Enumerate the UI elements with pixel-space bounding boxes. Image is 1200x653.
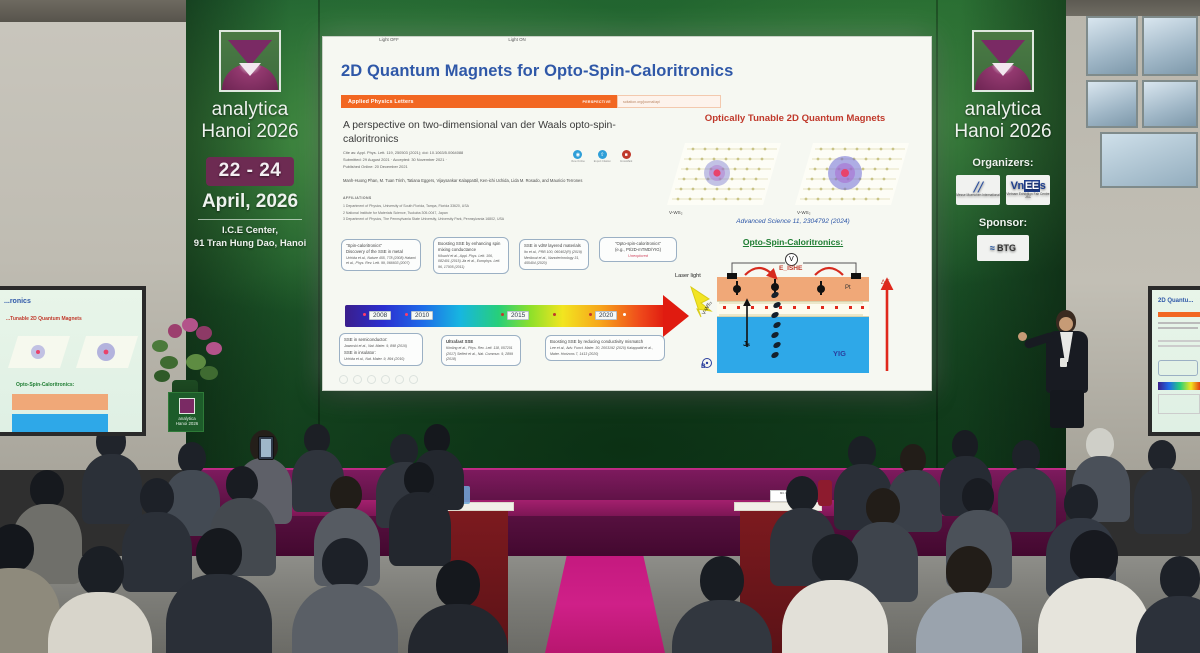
timeline-year: 2008 — [369, 311, 391, 320]
box-heading: Ultrafast SSE — [446, 339, 516, 345]
affiliation-item: 3 Department of Physics, The Pennsylvani… — [343, 216, 643, 223]
box-heading-2: SSE in insulator: — [344, 350, 418, 356]
author-list: Manh-Huong Phan, M. Tuan Trinh, Tatiana … — [343, 177, 643, 185]
lattice-material-label-right: V-WS₂ — [797, 210, 811, 215]
side-monitor-pt-layer — [12, 394, 108, 410]
organizer-logo-vnees-icon: VnEEs Vietnam Exhibition Fair Centre JSC — [1006, 175, 1050, 205]
ceiling-strip-left — [0, 0, 186, 22]
toolbar-more-icon[interactable] — [409, 375, 418, 384]
timeline-year: 2015 — [507, 311, 529, 320]
box-status: Unexplored — [604, 253, 672, 258]
brand-name: analytica — [180, 100, 320, 120]
opto-spin-caloritronics-figure: V E_ISHE Laser light ΔT Pt YIG Jₛ B V-WS… — [675, 251, 911, 379]
crossmark-icon: ■ CrossMark — [620, 150, 633, 163]
citation-line: Submitted: 29 August 2021 · Accepted: 30… — [343, 157, 573, 164]
box-refs-2: Uchida et al., Nat. Mater. 9, 894 (2010) — [344, 357, 418, 362]
box-refs: Kimling et al., Phys. Rev. Lett. 118, 05… — [446, 346, 516, 362]
yig-label: YIG — [833, 349, 846, 358]
laser-light-label: Laser light — [675, 273, 701, 279]
organizer-logo-messe-icon: ╱╱ Messe Muenchen International — [956, 175, 1000, 205]
timeline-year: 2020 — [595, 311, 617, 320]
side-monitor-right: 2D Quantu... — [1148, 286, 1200, 436]
timeline-box-bottom-1: SSE in semiconductor: Jaworski et al., N… — [339, 333, 423, 366]
side-monitor-yig-layer — [12, 414, 108, 436]
timeline-marker — [589, 313, 592, 316]
side-monitor-lattices — [0, 330, 140, 376]
banner-right: analytica Hanoi 2026 Organizers: ╱╱ Mess… — [933, 16, 1073, 261]
side-monitor-left: ...ronics ...Tunable 2D Quantum Magnets … — [0, 286, 146, 436]
box-refs: Ito et al., PRB 100, 060402(R) (2019) Me… — [524, 250, 584, 266]
analytica-logo-icon — [219, 30, 281, 92]
box-refs: Uchida et al., Nature 455, 778 (2008) Ha… — [346, 256, 416, 267]
window-pane — [1086, 16, 1138, 76]
timeline-box-top-4: "Opto-spin-caloritronics" (e.g., Pt/2D-m… — [599, 237, 677, 262]
timeline-box-top-2: Boosting SSE by enhancing spin mixing co… — [433, 237, 509, 274]
projection-screen: 2D Quantum Magnets for Opto-Spin-Calorit… — [322, 36, 932, 391]
pt-label: Pt — [845, 285, 851, 291]
box-refs: Jaworski et al., Nat. Mater. 9, 898 (201… — [344, 344, 418, 349]
brand-name: analytica — [933, 100, 1073, 120]
lattice-caption-light-off: Light OFF — [329, 37, 449, 42]
venue-line-1: I.C.E Center, — [180, 225, 320, 238]
timeline-marker — [501, 313, 504, 316]
box-subheading: Discovery of the SSE in metal — [346, 249, 416, 255]
side-monitor-title: ...ronics — [4, 298, 31, 305]
organizer-logo-row: ╱╱ Messe Muenchen International VnEEs Vi… — [933, 175, 1073, 205]
window-pane — [1086, 80, 1138, 128]
publication-icon-row: ◉ View Online ⇧ Export Citation ■ CrossM… — [571, 150, 632, 163]
ceiling-strip-right — [1066, 0, 1200, 16]
timeline-arrowhead — [663, 295, 689, 337]
timeline-marker — [363, 313, 366, 316]
podium-logo-icon — [179, 398, 195, 414]
slide-title: 2D Quantum Magnets for Opto-Spin-Calorit… — [341, 62, 733, 81]
lattice-figures: V-WS₂ V-WS₂ — [659, 129, 927, 215]
affiliation-item: 2 National Institute for Materials Scien… — [343, 210, 643, 217]
advanced-science-reference: Advanced Science 11, 2304792 (2024) — [659, 218, 927, 225]
podium-text: analyticaHanoi 2026 — [169, 416, 205, 427]
presentation-slide: 2D Quantum Magnets for Opto-Spin-Calorit… — [323, 37, 931, 390]
magnetic-field-label: B — [701, 363, 706, 370]
optically-tunable-heading: Optically Tunable 2D Quantum Magnets — [667, 113, 923, 124]
sponsor-label: Sponsor: — [933, 217, 1073, 229]
journal-section: PERSPECTIVE — [583, 100, 611, 104]
sponsor-logo-btg-icon: ≈ BTG — [977, 235, 1029, 261]
smartphone — [258, 436, 274, 460]
podium-sign: analyticaHanoi 2026 — [168, 392, 204, 432]
lattice-diagram-light-off — [665, 139, 785, 211]
journal-header-bar: Applied Physics Letters PERSPECTIVE — [341, 95, 617, 108]
box-heading: SSE in vdW layered materials — [524, 243, 584, 249]
eishe-label: E_ISHE — [779, 265, 802, 272]
window-pane — [1100, 132, 1198, 188]
export-citation-icon: ⇧ Export Citation — [594, 150, 611, 163]
journal-url: scitation.org/journal/apl — [617, 95, 721, 108]
timeline-marker — [553, 313, 556, 316]
toolbar-menu-icon[interactable] — [381, 375, 390, 384]
box-refs: Kikuchi et al., Appl. Phys. Lett. 106, 0… — [438, 254, 504, 270]
timeline-marker — [405, 313, 408, 316]
analytica-logo-icon — [972, 30, 1034, 92]
event-month-year: April, 2026 — [180, 191, 320, 213]
timeline-year: 2010 — [411, 311, 433, 320]
toolbar-next-icon[interactable] — [353, 375, 362, 384]
timeline-box-bottom-2: Ultrafast SSE Kimling et al., Phys. Rev.… — [441, 335, 521, 366]
timeline-marker — [623, 313, 626, 316]
side-monitor-title: 2D Quantu... — [1158, 298, 1193, 304]
divider — [198, 219, 302, 220]
spin-current-label: Jₛ — [743, 339, 750, 348]
window-pane — [1142, 16, 1198, 76]
flower-vase-table — [818, 480, 832, 506]
citation-line: Cite as: Appl. Phys. Lett. 119, 250503 (… — [343, 150, 573, 157]
event-dates: 22 - 24 — [206, 157, 295, 186]
window-pane — [1142, 80, 1198, 128]
delta-t-label: ΔT — [881, 279, 889, 286]
journal-name: Applied Physics Letters — [348, 99, 414, 105]
lattice-diagram-light-on — [793, 139, 913, 211]
paper-title: A perspective on two-dimensional van der… — [343, 119, 633, 147]
presenter — [1040, 310, 1096, 428]
opto-spin-caloritronics-heading: Opto-Spin-Caloritronics: — [659, 237, 927, 247]
timeline-box-top-3: SSE in vdW layered materials Ito et al.,… — [519, 239, 589, 270]
venue-line-2: 91 Tran Hung Dao, Hanoi — [180, 238, 320, 251]
timeline-box-top-1: "Spin-caloritronics" Discovery of the SS… — [341, 239, 421, 271]
lattice-material-label-left: V-WS₂ — [669, 210, 683, 215]
toolbar-previous-icon[interactable] — [339, 375, 348, 384]
banner-left: analytica Hanoi 2026 22 - 24 April, 2026… — [180, 16, 320, 250]
box-refs: Lee et al., Adv. Funct. Mater. 30, 20031… — [550, 346, 660, 357]
side-monitor-subtitle: ...Tunable 2D Quantum Magnets — [6, 316, 82, 322]
timeline-box-bottom-3: Boosting SSE by reducing conductivity mi… — [545, 335, 665, 361]
brand-location: Hanoi 2026 — [933, 121, 1073, 143]
citation-block: Cite as: Appl. Phys. Lett. 119, 250503 (… — [343, 150, 573, 170]
toolbar-zoom-icon[interactable] — [395, 375, 404, 384]
box-heading: Boosting SSE by reducing conductivity mi… — [550, 339, 660, 345]
side-monitor-figure-heading: Opto-Spin-Caloritronics: — [16, 382, 74, 388]
affiliation-item: 1 Department of Physics, University of S… — [343, 203, 643, 210]
affiliations-heading: AFFILIATIONS — [343, 196, 372, 200]
brand-location: Hanoi 2026 — [180, 121, 320, 143]
view-online-icon: ◉ View Online — [571, 150, 585, 163]
lattice-caption-light-on: Light ON — [457, 37, 577, 42]
presentation-toolbar[interactable] — [339, 375, 418, 384]
side-monitor-journal-bar — [1158, 312, 1200, 317]
toolbar-pen-icon[interactable] — [367, 375, 376, 384]
box-heading: Boosting SSE by enhancing spin mixing co… — [438, 241, 504, 253]
box-heading: SSE in semiconductor: — [344, 337, 418, 343]
affiliations-list: 1 Department of Physics, University of S… — [343, 203, 643, 223]
conference-photo-scene: analytica Hanoi 2026 22 - 24 April, 2026… — [0, 0, 1200, 653]
organizers-label: Organizers: — [933, 157, 1073, 169]
citation-line: Published Online: 20 December 2021 — [343, 164, 573, 171]
